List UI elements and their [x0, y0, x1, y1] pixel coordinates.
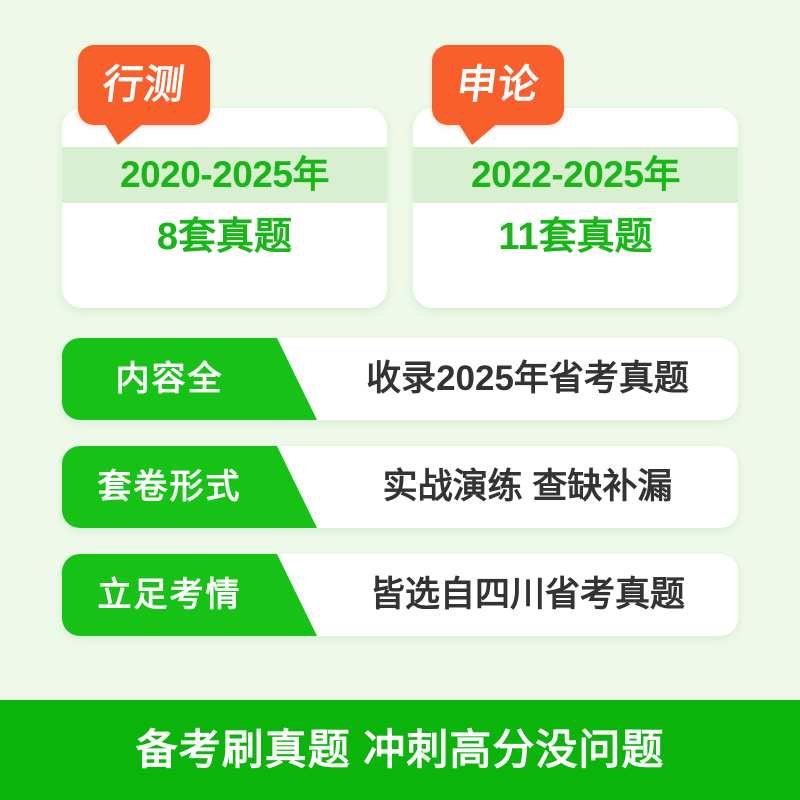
- card-year-range: 2020-2025年: [62, 147, 387, 203]
- card-paper-count: 11套真题: [413, 208, 738, 266]
- badge-xingce-label: 行测: [73, 45, 215, 125]
- exam-cards-row: 2020-2025年 8套真题 2022-2025年 11套真题: [62, 108, 738, 308]
- feature-tag-label: 立足考情: [62, 554, 277, 636]
- feature-description: 皆选自四川省考真题: [317, 554, 738, 636]
- card-year-range: 2022-2025年: [413, 147, 738, 203]
- bottom-banner: 备考刷真题 冲刺高分没问题: [0, 700, 800, 800]
- feature-tag-label: 套卷形式: [62, 446, 277, 528]
- promo-poster: 2020-2025年 8套真题 2022-2025年 11套真题 行测 申论 内…: [0, 0, 800, 800]
- feature-tag-label: 内容全: [62, 338, 277, 420]
- speech-bubble-tail-icon: [458, 123, 498, 145]
- card-paper-count: 8套真题: [62, 208, 387, 266]
- feature-row-format[interactable]: 套卷形式 实战演练 查缺补漏: [62, 446, 738, 528]
- feature-description: 实战演练 查缺补漏: [317, 446, 738, 528]
- badge-shenlun-label: 申论: [427, 45, 569, 125]
- badge-xingce: 行测: [78, 45, 210, 125]
- feature-row-content[interactable]: 内容全 收录2025年省考真题: [62, 338, 738, 420]
- feature-description: 收录2025年省考真题: [317, 338, 738, 420]
- feature-row-exam-basis[interactable]: 立足考情 皆选自四川省考真题: [62, 554, 738, 636]
- badge-shenlun: 申论: [432, 45, 564, 125]
- bottom-banner-slogan: 备考刷真题 冲刺高分没问题: [0, 700, 800, 800]
- speech-bubble-tail-icon: [104, 123, 144, 145]
